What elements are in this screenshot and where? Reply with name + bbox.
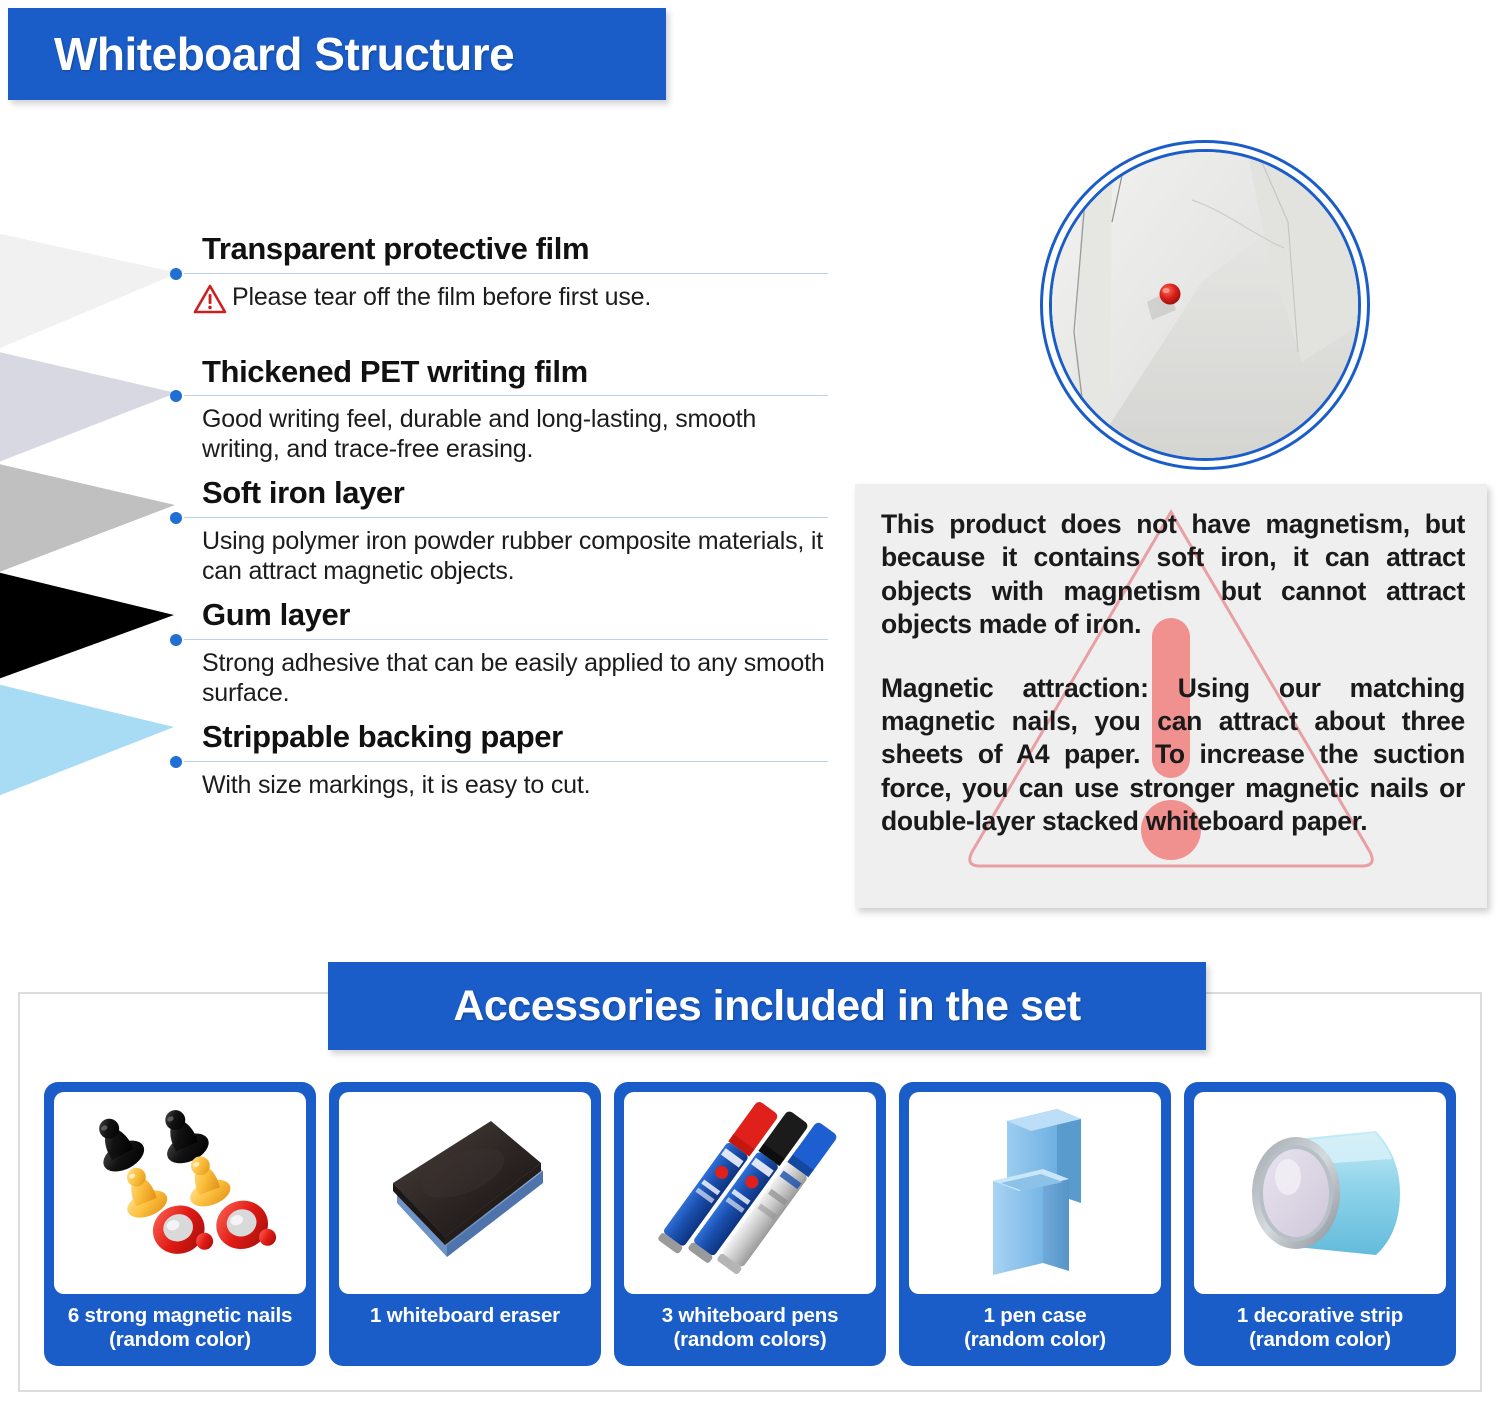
magnetic-pin-icon	[1160, 284, 1181, 305]
divider-line	[184, 761, 828, 762]
structure-item-strippable-backing-paper: Strippable backing paper With size marki…	[168, 720, 828, 800]
info-paragraph-1: This product does not have magnetism, bu…	[881, 508, 1465, 642]
info-paragraph-2: Magnetic attraction: Using our matching …	[881, 672, 1465, 839]
structure-item-heading: Gum layer	[168, 598, 828, 633]
magnetic-push-pins-icon	[54, 1092, 306, 1294]
accessory-caption-line2: (random color)	[1249, 1328, 1391, 1351]
pen-case-icon	[909, 1092, 1161, 1294]
accessory-caption-line2: (random color)	[964, 1328, 1106, 1351]
layer-stack-diagram	[0, 215, 190, 865]
page-title: Whiteboard Structure	[8, 27, 514, 81]
structure-item-heading: Thickened PET writing film	[168, 355, 828, 390]
layer-wedge-gum	[0, 563, 174, 693]
accessory-caption: 1 decorative strip (random color)	[1235, 1294, 1405, 1358]
divider-line	[184, 639, 828, 640]
structure-item-heading: Transparent protective film	[168, 232, 828, 267]
structure-item-body: With size markings, it is easy to cut.	[168, 768, 828, 800]
bullet-dot-icon	[170, 634, 182, 646]
accessory-caption-line1: 1 decorative strip	[1237, 1304, 1403, 1327]
divider-line	[184, 517, 828, 518]
accessory-caption-line1: 1 pen case	[984, 1304, 1087, 1327]
structure-item-body: Good writing feel, durable and long-last…	[168, 402, 828, 464]
structure-item-body-row: Please tear off the film before first us…	[168, 280, 828, 321]
accessory-card-magnetic-nails[interactable]: 6 strong magnetic nails (random color)	[44, 1082, 316, 1366]
layer-wedge-backing-paper	[0, 675, 174, 811]
whiteboard-eraser-icon	[339, 1092, 591, 1294]
accessory-caption-line2: (random color)	[109, 1328, 251, 1351]
warning-triangle-icon	[193, 284, 227, 321]
layer-wedge-pet-film	[0, 343, 176, 477]
circle-inner-ring	[1049, 149, 1361, 461]
accessories-card-row: 6 strong magnetic nails (random color)	[44, 1082, 1456, 1366]
bullet-dot-icon	[170, 512, 182, 524]
structure-item-rule	[168, 634, 828, 646]
structure-item-heading: Soft iron layer	[168, 476, 828, 511]
structure-item-gum-layer: Gum layer Strong adhesive that can be ea…	[168, 598, 828, 708]
accessory-caption: 1 pen case (random color)	[962, 1294, 1108, 1358]
accessory-card-decorative-strip[interactable]: 1 decorative strip (random color)	[1184, 1082, 1456, 1366]
magnetism-info-text: This product does not have magnetism, bu…	[881, 508, 1465, 838]
structure-item-body: Strong adhesive that can be easily appli…	[168, 646, 828, 708]
accessory-caption: 1 whiteboard eraser	[368, 1294, 562, 1334]
accessory-caption-line1: 3 whiteboard pens	[662, 1304, 839, 1327]
accessory-card-whiteboard-pens[interactable]: 3 whiteboard pens (random colors)	[614, 1082, 886, 1366]
structure-item-soft-iron-layer: Soft iron layer Using polymer iron powde…	[168, 476, 828, 586]
accessory-caption-line1: 1 whiteboard eraser	[370, 1304, 560, 1327]
accessory-caption-line2: (random colors)	[673, 1328, 826, 1351]
accessory-card-whiteboard-eraser[interactable]: 1 whiteboard eraser	[329, 1082, 601, 1366]
divider-line	[184, 273, 828, 274]
structure-item-rule	[168, 512, 828, 524]
accessory-caption: 6 strong magnetic nails (random color)	[66, 1294, 294, 1358]
layer-wedge-soft-iron	[0, 455, 175, 587]
accessory-caption: 3 whiteboard pens (random colors)	[660, 1294, 841, 1358]
structure-item-heading: Strippable backing paper	[168, 720, 828, 755]
spacer	[881, 642, 1465, 672]
structure-item-body: Using polymer iron powder rubber composi…	[168, 524, 828, 586]
structure-item-body: Please tear off the film before first us…	[232, 282, 651, 312]
accessory-card-pen-case[interactable]: 1 pen case (random color)	[899, 1082, 1171, 1366]
accessories-title: Accessories included in the set	[453, 982, 1080, 1031]
structure-item-transparent-protective-film: Transparent protective film Please tear …	[168, 232, 828, 321]
bullet-dot-icon	[170, 268, 182, 280]
bullet-dot-icon	[170, 390, 182, 402]
magnetism-info-box: This product does not have magnetism, bu…	[855, 484, 1487, 908]
layer-wedge-protective-film	[0, 225, 178, 365]
structure-item-rule	[168, 390, 828, 402]
magnified-photo-circle	[1040, 140, 1370, 470]
divider-line	[184, 395, 828, 396]
decorative-tape-roll-icon	[1194, 1092, 1446, 1294]
accessory-caption-line1: 6 strong magnetic nails	[68, 1304, 292, 1327]
accessories-title-banner: Accessories included in the set	[328, 962, 1206, 1050]
structure-item-rule	[168, 268, 828, 280]
structure-item-thickened-pet-writing-film: Thickened PET writing film Good writing …	[168, 355, 828, 465]
spacer	[168, 321, 828, 355]
whiteboard-markers-icon	[624, 1092, 876, 1294]
page-title-banner: Whiteboard Structure	[8, 8, 666, 100]
bullet-dot-icon	[170, 756, 182, 768]
whiteboard-structure-list: Transparent protective film Please tear …	[168, 232, 828, 800]
structure-item-rule	[168, 756, 828, 768]
